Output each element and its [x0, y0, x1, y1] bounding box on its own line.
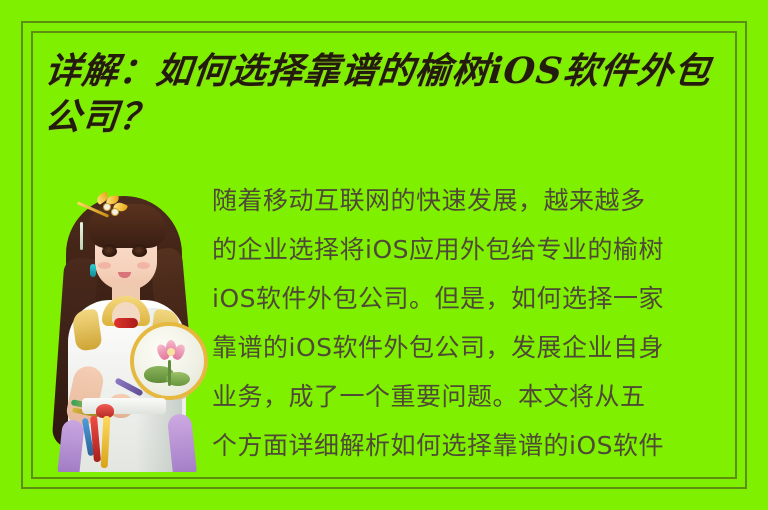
title-line-2: 公司？ [43, 94, 748, 140]
character-illustration [52, 188, 210, 472]
lotus-stem [168, 360, 171, 386]
ornament-tassel [80, 222, 83, 250]
waist-sash [82, 398, 166, 414]
red-bow [114, 318, 138, 328]
eye-right [132, 246, 147, 257]
hair-ornament [78, 194, 132, 222]
blush-left [98, 262, 111, 269]
title-line-1: 详解：如何选择靠谱的榆树iOS软件外包 [43, 48, 748, 94]
sleeve-drape-right [167, 413, 197, 472]
lotus-core [167, 348, 175, 356]
body-line-3: iOS软件外包公司。但是，如何选择一家 [212, 274, 736, 323]
body-line-4: 靠谱的iOS软件外包公司，发展企业自身 [212, 323, 736, 372]
body-line-1: 随着移动互联网的快速发展，越来越多 [212, 176, 736, 225]
body-line-2: 的企业选择将iOS应用外包给专业的榆树 [212, 225, 736, 274]
article-cover-card: 详解：如何选择靠谱的榆树iOS软件外包 公司？ 随着移动互联网的快速发展，越来越… [0, 0, 768, 510]
lotus-flower [158, 340, 184, 362]
ornament-bead-1 [104, 204, 110, 210]
page-title: 详解：如何选择靠谱的榆树iOS软件外包 公司？ [45, 48, 745, 140]
blush-right [137, 262, 150, 269]
earring-jade [90, 264, 96, 277]
article-body-text: 随着移动互联网的快速发展，越来越多 的企业选择将iOS应用外包给专业的榆树 iO… [212, 176, 736, 476]
eye-left [102, 246, 117, 257]
ornament-bead-2 [112, 209, 118, 215]
shoulder-trim-left [71, 308, 102, 351]
body-line-6: 个方面详细解析如何选择靠谱的iOS软件 [212, 421, 736, 470]
body-line-5: 业务，成了一个重要问题。本文将从五 [212, 372, 736, 421]
